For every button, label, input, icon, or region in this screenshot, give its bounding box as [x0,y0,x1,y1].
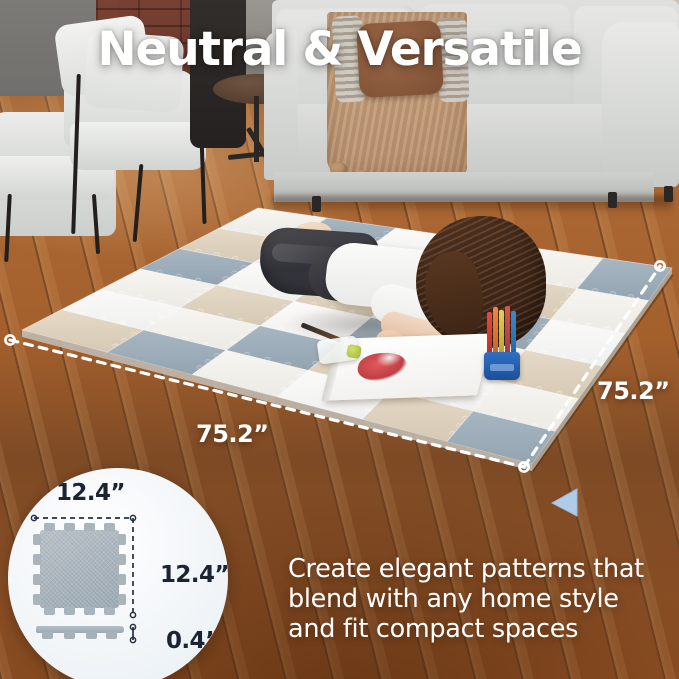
dimension-label-depth: 75.2” [597,377,670,405]
marker [487,312,492,354]
marker-case [484,352,520,380]
marker-set [484,308,520,380]
product-marketing-image: Neutral & Versatile 75.2” 75.2” Create e… [0,0,679,679]
tagline-line-3: and fit compact spaces [288,614,674,644]
marker [511,311,516,354]
inset-dimension-guides [8,468,228,679]
marker-case-label [490,364,514,371]
dimension-label-width: 75.2” [196,420,269,448]
tagline-line-1: Create elegant patterns that [288,554,674,584]
marker [505,306,510,354]
marker [493,307,498,354]
tagline-line-2: blend with any home style [288,584,674,614]
tile-detail-inset: 12.4” 12.4” 0.4” [8,468,228,679]
snack-green-item [346,344,362,359]
page-title: Neutral & Versatile [0,22,679,77]
tagline: Create elegant patterns that blend with … [288,554,674,644]
marker [499,310,504,354]
